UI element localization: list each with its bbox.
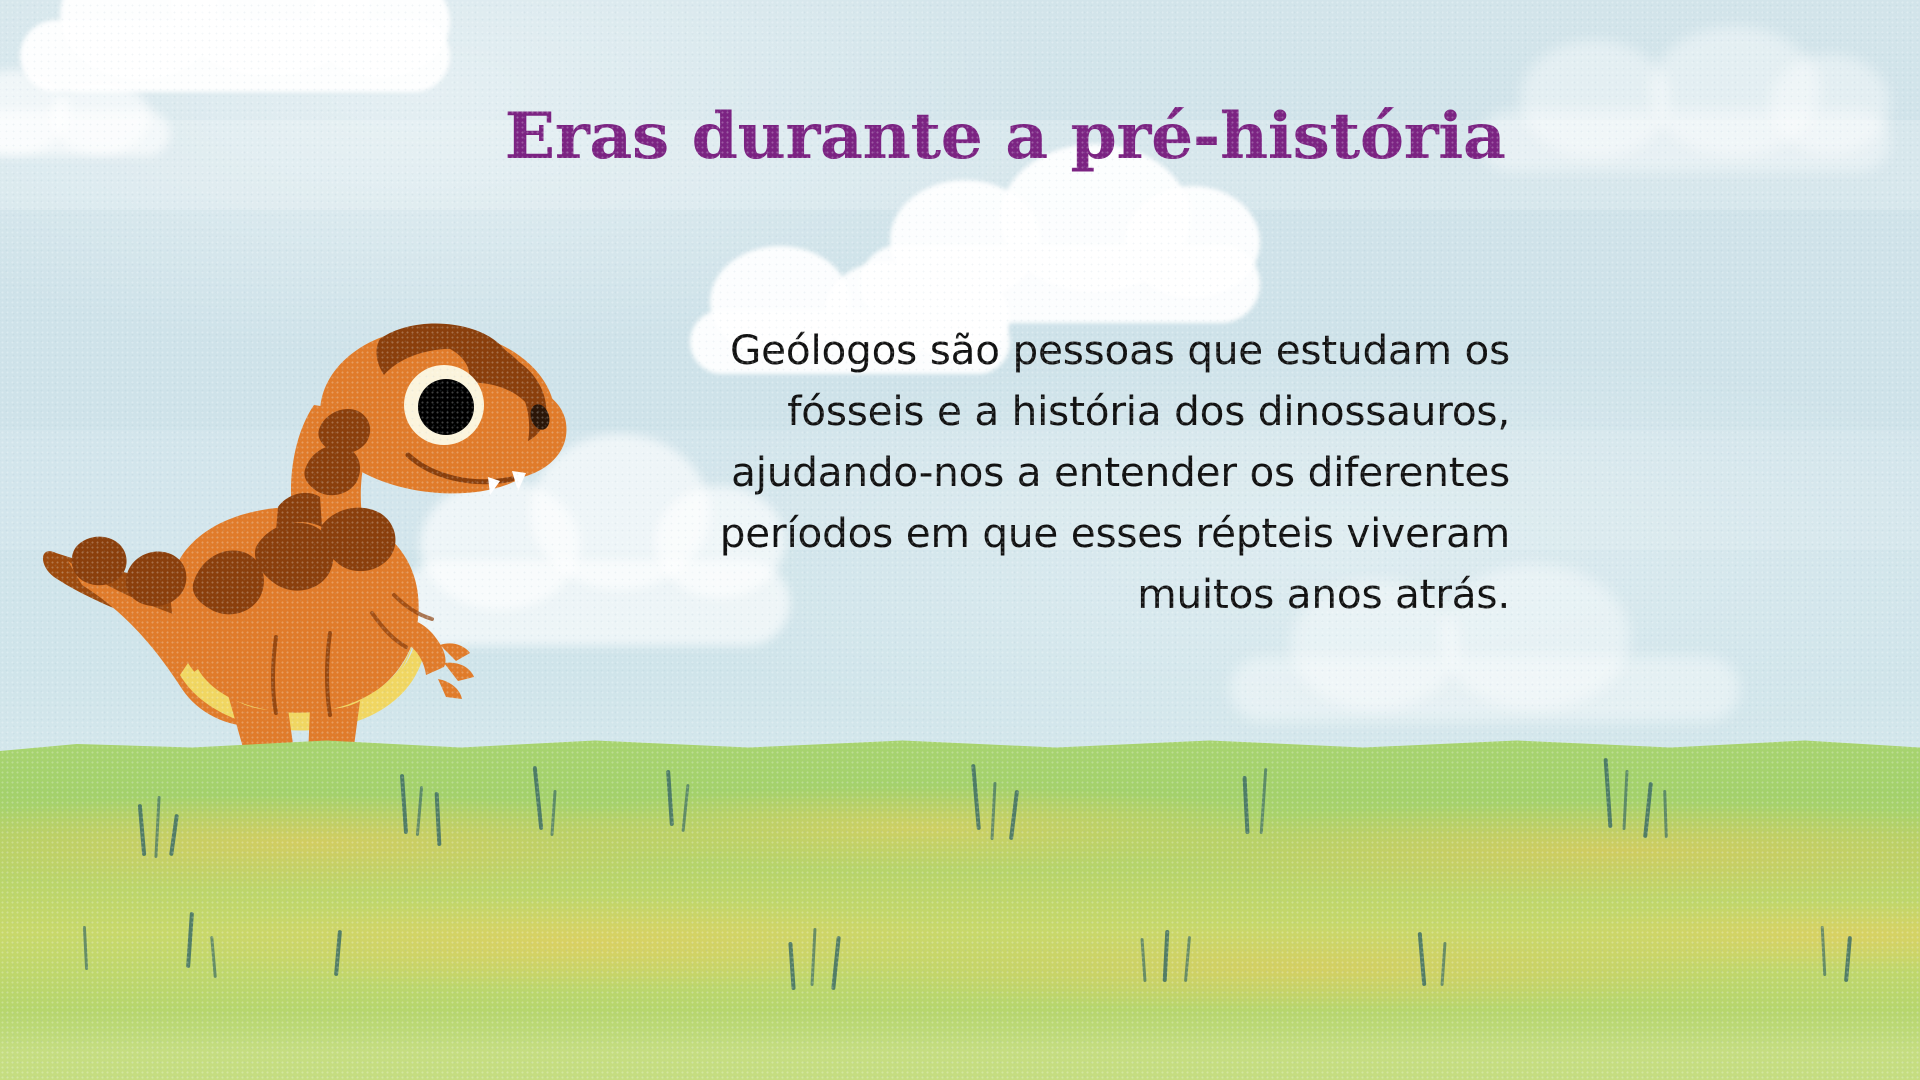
grass-field <box>0 730 1920 1080</box>
slide-canvas: Eras durante a pré-história Geólogos são… <box>0 0 1920 1080</box>
body-line: fósseis e a história dos dinossauros, <box>640 381 1510 442</box>
body-line: muitos anos atrás. <box>640 564 1510 625</box>
body-line: Geólogos são pessoas que estudam os <box>640 320 1510 381</box>
body-line: ajudando-nos a entender os diferentes <box>640 442 1510 503</box>
page-title: Eras durante a pré-história <box>480 104 1530 169</box>
body-line: períodos em que esses répteis viveram <box>640 503 1510 564</box>
grass-bottom-highlight <box>0 1010 1920 1080</box>
body-paragraph: Geólogos são pessoas que estudam os fóss… <box>640 320 1510 625</box>
